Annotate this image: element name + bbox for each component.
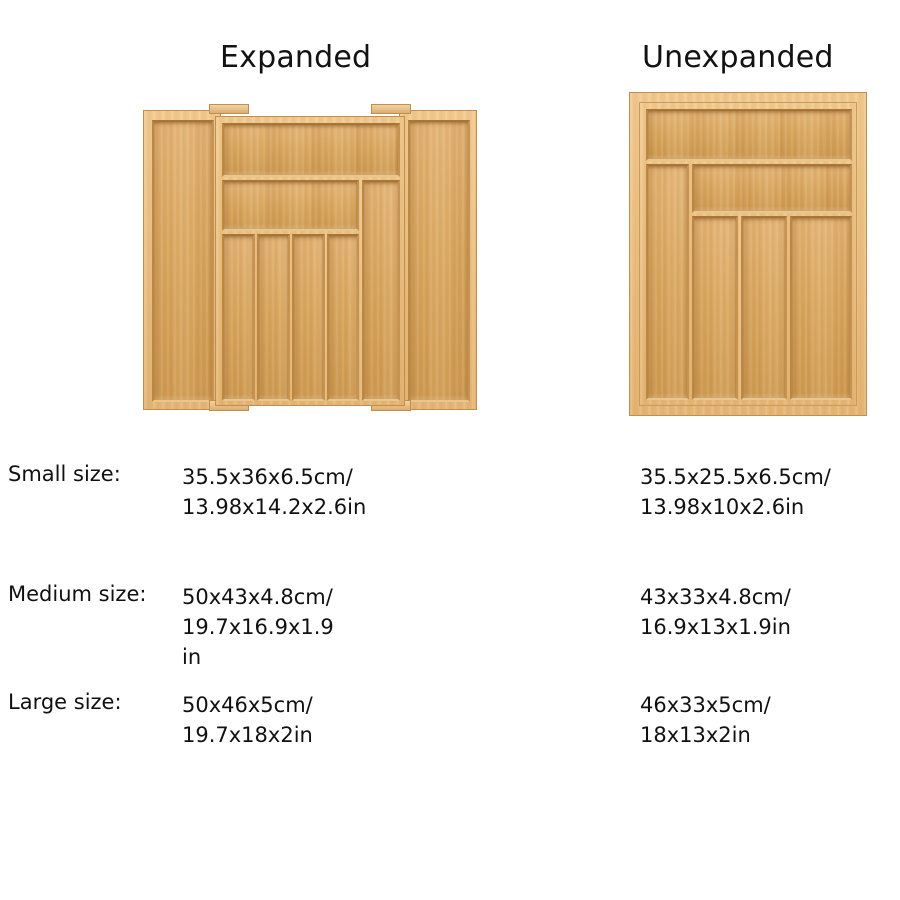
- spec-value-medium-unexpanded: 43x33x4.8cm/ 16.9x13x1.9in: [640, 582, 890, 642]
- spec-line: in: [182, 642, 372, 672]
- wing-right: [399, 110, 477, 410]
- spec-line: 43x33x4.8cm/: [640, 582, 890, 612]
- compartment-left-wing: [152, 120, 214, 402]
- compartment-right-tall: [362, 180, 400, 401]
- spec-line: 46x33x5cm/: [640, 690, 890, 720]
- compartment-second-wide: [222, 180, 359, 231]
- compartment-right-wing: [408, 120, 470, 402]
- spec-line: 13.98x10x2.6in: [640, 492, 890, 522]
- spec-line: 35.5x25.5x6.5cm/: [640, 462, 890, 492]
- spec-line: 35.5x36x6.5cm/: [182, 462, 372, 492]
- spec-value-small-unexpanded: 35.5x25.5x6.5cm/ 13.98x10x2.6in: [640, 462, 890, 522]
- compartment-slot-3-unexpanded: [790, 216, 852, 400]
- tray-outer-frame-unexpanded: [629, 92, 867, 416]
- spec-value-large-expanded: 50x46x5cm/ 19.7x18x2in: [182, 690, 372, 750]
- spec-value-large-unexpanded: 46x33x5cm/ 18x13x2in: [640, 690, 890, 750]
- tray-center-body: [215, 116, 405, 406]
- product-image-unexpanded: [629, 92, 867, 416]
- spec-line: 19.7x16.9x1.9: [182, 612, 372, 642]
- spec-line: 13.98x14.2x2.6in: [182, 492, 372, 522]
- compartment-slot-2: [257, 234, 290, 401]
- compartment-top-wide-unexpanded: [646, 109, 852, 161]
- spec-line: 18x13x2in: [640, 720, 890, 750]
- spec-line: 19.7x18x2in: [182, 720, 372, 750]
- spec-line: 16.9x13x1.9in: [640, 612, 890, 642]
- spec-line: 50x43x4.8cm/: [182, 582, 372, 612]
- spec-label-medium: Medium size:: [8, 582, 146, 606]
- compartment-slot-1: [222, 234, 255, 401]
- heading-expanded: Expanded: [220, 40, 371, 75]
- compartment-slot-1-unexpanded: [692, 216, 738, 400]
- product-image-expanded: [143, 104, 477, 416]
- spec-line: 50x46x5cm/: [182, 690, 372, 720]
- compartment-second-wide-unexpanded: [692, 164, 852, 213]
- slide-tab-top-left: [209, 104, 249, 114]
- compartment-top-wide: [222, 123, 400, 177]
- spec-label-large: Large size:: [8, 690, 122, 714]
- wing-left: [143, 110, 221, 410]
- slide-tab-top-right: [371, 104, 411, 114]
- compartment-slot-4: [327, 234, 359, 401]
- compartment-slot-2-unexpanded: [741, 216, 787, 400]
- spec-value-small-expanded: 35.5x36x6.5cm/ 13.98x14.2x2.6in: [182, 462, 372, 522]
- spec-value-medium-expanded: 50x43x4.8cm/ 19.7x16.9x1.9 in: [182, 582, 372, 672]
- compartment-slot-3: [292, 234, 325, 401]
- compartment-left-tall-unexpanded: [646, 164, 689, 400]
- spec-label-small: Small size:: [8, 462, 121, 486]
- heading-unexpanded: Unexpanded: [642, 40, 834, 75]
- tray-inner-body-unexpanded: [639, 102, 857, 406]
